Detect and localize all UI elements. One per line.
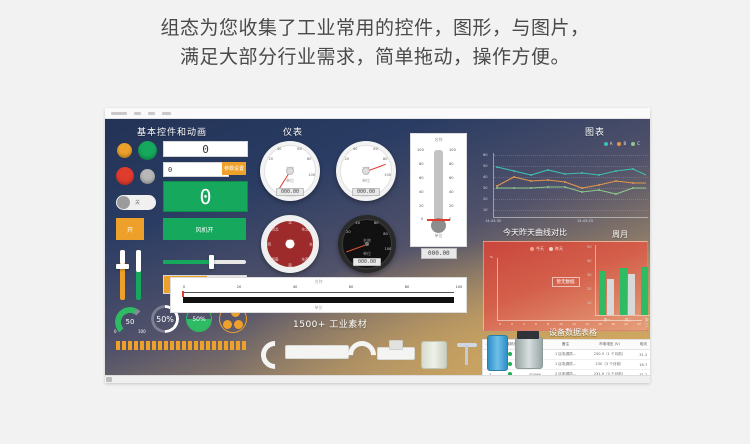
toolbar-chip-run[interactable] xyxy=(162,112,171,115)
bar-x-axis xyxy=(595,315,650,316)
ruler-name: 名称 xyxy=(171,279,466,285)
vertical-slider-orange[interactable] xyxy=(120,250,125,300)
line-chart-series xyxy=(483,143,648,221)
hslider-fill xyxy=(163,260,211,264)
toolbar-chip-save[interactable] xyxy=(134,112,141,115)
lamp-red[interactable] xyxy=(116,167,134,185)
speed-tick-20: 20 xyxy=(346,230,351,234)
led-cell xyxy=(164,341,168,350)
lamp-gray[interactable] xyxy=(140,169,155,184)
ruler-num-40: 40 xyxy=(293,285,298,289)
cmp-x-4: 4 xyxy=(523,322,525,326)
toggle-label: 关 xyxy=(135,199,140,206)
number-display: 0 xyxy=(163,141,248,157)
thermo-right-80: 80 xyxy=(449,162,454,166)
panel-title-table: 设备数据表格 xyxy=(549,327,597,338)
cell-voltage: 230（3 个月前） xyxy=(584,360,636,370)
window-toolbar[interactable] xyxy=(105,108,650,119)
assets-title: 1500+ 工业素材 xyxy=(293,317,367,330)
bar-cat-2: 周二 xyxy=(625,317,632,322)
led-cell xyxy=(194,341,198,350)
table-row[interactable]: 1 27816 1 区电源防... 230.3（1 个月前） 31.2 xyxy=(483,350,650,360)
thermo-right-60: 60 xyxy=(449,176,454,180)
cmp-x-2: 2 xyxy=(511,322,513,326)
led-cell xyxy=(182,341,186,350)
mixer-shaft xyxy=(465,345,468,365)
vslider-orange-handle[interactable] xyxy=(116,264,129,269)
tank-gray xyxy=(515,337,543,369)
thermo-right-40: 40 xyxy=(449,190,454,194)
gauge1-tick-100: 100 xyxy=(308,173,315,177)
bar-cat-1: 周一 xyxy=(604,317,611,322)
compass-hub xyxy=(286,240,295,249)
toolbar-chip-menu[interactable] xyxy=(111,112,127,115)
legend-label-yesterday: 昨天 xyxy=(555,246,563,252)
cmp-x-6: 6 xyxy=(535,322,537,326)
cell-current: 31.2 xyxy=(636,350,650,360)
ruler-widget: 名称 0 20 40 60 80 100 单位 xyxy=(170,277,467,313)
thermo-left-60: 60 xyxy=(419,176,424,180)
led-cell xyxy=(206,341,210,350)
compare-legend[interactable]: 今天 昨天 xyxy=(530,246,563,252)
gauge1-unit: 单位 xyxy=(260,178,320,184)
speed-tick-60: 60 xyxy=(374,221,379,225)
bar-y-20: 20 xyxy=(587,287,592,291)
gauge-compass: 北 东北 东 东南 南 西南 西 西北 名称 xyxy=(261,215,319,273)
headline-line-2: 满足大部分行业需求，简单拖动，操作方便。 xyxy=(0,43,750,72)
compass-dir-sw: 西南 xyxy=(271,258,278,263)
cmp-x-12: 12 xyxy=(572,322,576,326)
cell-current: 16.7 xyxy=(636,360,650,370)
half-ring-max: 100 xyxy=(138,329,146,334)
compare-empty-message: 暂无数据 xyxy=(552,277,580,287)
headline-line-1: 组态为您收集了工业常用的控件，图形，与图片， xyxy=(0,14,750,43)
gauge-dial-1: 20 40 60 80 100 名称 单位 000.00 xyxy=(260,141,320,201)
thermo-right-20: 20 xyxy=(449,204,454,208)
valve-handle xyxy=(389,340,403,350)
gauge2-hub xyxy=(362,167,370,175)
thermo-left-0: 0 xyxy=(421,217,423,221)
gauge2-readout: 000.00 xyxy=(352,188,380,196)
bar-gray-1 xyxy=(607,279,614,315)
lamp-orange[interactable] xyxy=(117,143,132,158)
gauge2-tick-60: 60 xyxy=(373,147,378,151)
gauge2-tick-100: 100 xyxy=(384,173,391,177)
led-cell xyxy=(134,341,138,350)
bar-green-3 xyxy=(641,267,648,315)
thermo-left-80: 80 xyxy=(419,162,424,166)
gauge2-tick-40: 40 xyxy=(353,147,358,151)
page-headline: 组态为您收集了工业常用的控件，图形，与图片， 满足大部分行业需求，简单拖动，操作… xyxy=(0,14,750,72)
thermometer-level xyxy=(427,219,450,221)
ruler-unit: 单位 xyxy=(171,305,466,311)
status-dot-online xyxy=(508,352,512,356)
bar-green-1 xyxy=(599,271,606,315)
pipe-straight xyxy=(285,345,349,359)
cell-remark: 1 区电源防... xyxy=(548,360,584,370)
led-cell xyxy=(152,341,156,350)
gauge2-unit: 单位 xyxy=(336,178,396,184)
thermo-right-0: 0 xyxy=(449,217,451,221)
tank-cylinder xyxy=(421,341,447,369)
speed-tick-40: 40 xyxy=(355,221,360,225)
ruler-num-80: 80 xyxy=(405,285,410,289)
bar-y-axis xyxy=(595,245,596,315)
bar-cat-3: 周三 xyxy=(645,317,648,327)
half-ring-min: 0 xyxy=(114,329,117,334)
cmp-x-8: 8 xyxy=(547,322,549,326)
table-header-row: 序号 连接状态 设备编号 备注 市电电压 (V) 电流 xyxy=(483,340,650,350)
gauge1-tick-20: 20 xyxy=(269,157,274,161)
cmp-x-0: 0 xyxy=(499,322,501,326)
led-cell xyxy=(122,341,126,350)
compass-dir-s: 南 xyxy=(288,264,292,269)
ruler-num-60: 60 xyxy=(349,285,354,289)
gauge-dial-2: 20 40 60 80 100 名称 单位 000.00 xyxy=(336,141,396,201)
vertical-slider-green[interactable] xyxy=(136,250,141,300)
hslider-handle[interactable] xyxy=(209,255,214,269)
led-cell xyxy=(230,341,234,350)
ruler-bar xyxy=(183,297,454,303)
compare-y-axis xyxy=(497,258,498,320)
panel-title-basic: 基本控件和动画 xyxy=(137,125,207,138)
thermometer-unit: 单位 xyxy=(411,233,466,239)
lamp-green[interactable] xyxy=(138,141,157,160)
panel-title-bars: 周月 xyxy=(612,229,628,240)
gauge1-tick-40: 40 xyxy=(277,147,282,151)
led-cell xyxy=(158,341,162,350)
compass-dir-n: 北 xyxy=(288,221,292,226)
panel-title-gauges: 仪表 xyxy=(283,125,303,138)
led-cell xyxy=(200,341,204,350)
fan-on-button[interactable]: 风机开 xyxy=(163,218,246,240)
col-remark: 备注 xyxy=(548,340,584,350)
on-button[interactable]: 开 xyxy=(116,218,144,240)
cell-voltage: 230.3（1 个月前） xyxy=(584,350,636,360)
app-window: 基本控件和动画 关 开 0 0 参数设置 0 风机开 xyxy=(105,108,650,383)
ruler-num-20: 20 xyxy=(237,285,242,289)
legend-item-yesterday[interactable]: 昨天 xyxy=(549,246,563,252)
big-value-display: 0 xyxy=(163,181,248,212)
tank-blue xyxy=(487,335,508,371)
gauge1-hub xyxy=(286,167,294,175)
toggle-knob xyxy=(117,196,130,209)
xlabel-end: 14:43:25 xyxy=(577,219,593,223)
half-ring-gauge: 50 0 100 xyxy=(115,307,145,329)
horizontal-scrollbar[interactable] xyxy=(105,375,650,383)
bar-chart: 50 40 30 20 10 周一 周二 周三 xyxy=(587,243,650,329)
param-settings-button[interactable]: 参数设置 xyxy=(222,162,246,175)
led-cell xyxy=(218,341,222,350)
xlabel-start: 14:43:30 xyxy=(485,219,501,223)
led-cell xyxy=(140,341,144,350)
legend-label-today: 今天 xyxy=(536,246,544,252)
led-cell xyxy=(176,341,180,350)
bar-y-40: 40 xyxy=(587,259,592,263)
bar-gray-2 xyxy=(628,274,635,315)
status-dot-online xyxy=(508,362,512,366)
equipment-top xyxy=(517,331,539,339)
speed-hub xyxy=(365,242,369,246)
design-canvas[interactable]: 基本控件和动画 关 开 0 0 参数设置 0 风机开 xyxy=(105,119,650,375)
ruler-num-100: 100 xyxy=(456,285,463,289)
col-current: 电流 xyxy=(636,340,650,350)
gauge-speedometer: 20 40 60 80 100 名称 单位 000.00 xyxy=(338,215,396,273)
thermometer-name: 名称 xyxy=(411,137,466,143)
param-input[interactable]: 0 xyxy=(163,162,229,177)
gauge1-readout: 000.00 xyxy=(276,188,304,196)
bar-green-2 xyxy=(620,268,627,315)
led-cell xyxy=(242,341,246,350)
panel-title-chart: 图表 xyxy=(585,125,605,138)
legend-item-today[interactable]: 今天 xyxy=(530,246,544,252)
bar-y-30: 30 xyxy=(587,273,592,277)
cell-remark: 1 区电源防... xyxy=(548,350,584,360)
led-cell xyxy=(170,341,174,350)
gauge2-tick-80: 80 xyxy=(383,157,388,161)
legend-dot-yesterday xyxy=(549,247,553,251)
table-row[interactable]: 2 44570 1 区电源防... 230（3 个月前） 16.7 xyxy=(483,360,650,370)
thermometer-tube xyxy=(434,150,443,222)
led-cell xyxy=(236,341,240,350)
ruler-num-0: 0 xyxy=(183,285,185,289)
led-cell xyxy=(128,341,132,350)
compare-ylabel: % xyxy=(490,255,493,259)
scrollbar-thumb[interactable] xyxy=(106,377,112,382)
horizontal-slider[interactable] xyxy=(163,260,246,264)
thermometer-readout: 000.00 xyxy=(421,248,457,259)
thermo-left-100: 100 xyxy=(417,148,424,152)
bar-y-10: 10 xyxy=(587,301,592,305)
thermo-left-40: 40 xyxy=(419,190,424,194)
thermo-right-100: 100 xyxy=(449,148,456,152)
col-voltage: 市电电压 (V) xyxy=(584,340,636,350)
led-cell xyxy=(116,341,120,350)
gauge1-tick-60: 60 xyxy=(297,147,302,151)
compass-dir-ne: 东北 xyxy=(301,228,308,233)
panel-title-compare: 今天昨天曲线对比 xyxy=(503,227,567,238)
led-cell xyxy=(224,341,228,350)
ruler-marker xyxy=(182,291,184,297)
toggle-switch[interactable]: 关 xyxy=(116,195,156,210)
pipe-elbow-right xyxy=(342,335,382,375)
speed-readout: 000.00 xyxy=(353,258,381,266)
legend-dot-today xyxy=(530,247,534,251)
thermo-left-20: 20 xyxy=(419,204,424,208)
bar-y-50: 50 xyxy=(587,245,592,249)
line-chart: A B C 60 50 40 30 20 10 xyxy=(483,143,648,221)
led-cell xyxy=(212,341,216,350)
compass-dir-nw: 西北 xyxy=(271,228,278,233)
speed-tick-80: 80 xyxy=(383,232,388,236)
led-indicator-row xyxy=(116,341,246,350)
compass-dir-se: 东南 xyxy=(301,258,308,263)
cmp-x-10: 10 xyxy=(559,322,563,326)
toolbar-chip-undo[interactable] xyxy=(148,112,155,115)
gauge1-tick-80: 80 xyxy=(307,157,312,161)
led-cell xyxy=(146,341,150,350)
led-cell xyxy=(188,341,192,350)
gauge2-tick-20: 20 xyxy=(345,157,350,161)
ruler-scale-line xyxy=(183,292,454,296)
thermometer-widget: 名称 100 80 60 40 20 0 100 80 60 40 20 0 单… xyxy=(410,133,467,247)
